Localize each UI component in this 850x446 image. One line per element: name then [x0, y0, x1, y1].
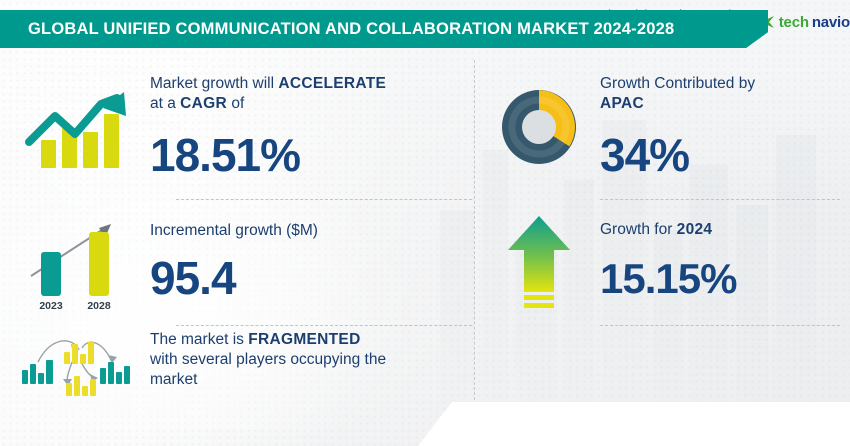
right-divider-1 — [600, 199, 840, 200]
cagr-label-bold: ACCELERATE — [278, 75, 386, 92]
stat-block-growth-2024: Growth for 2024 15.15% — [478, 202, 850, 322]
incremental-growth-text-cell: Incremental growth ($M) 95.4 — [150, 221, 472, 303]
donut-chart-icon-cell — [478, 84, 600, 170]
title-banner: GLOBAL UNIFIED COMMUNICATION AND COLLABO… — [0, 10, 768, 48]
fragmentation-bold: FRAGMENTED — [248, 331, 360, 348]
fragmentation-text-cell: The market is FRAGMENTED with several pl… — [150, 330, 472, 390]
growth-2024-label-pre: Growth for — [600, 221, 677, 238]
left-divider-1 — [176, 199, 472, 200]
cagr-label-line2-pre: at a — [150, 95, 180, 112]
bar-label-2028: 2028 — [83, 300, 115, 312]
page-title: GLOBAL UNIFIED COMMUNICATION AND COLLABO… — [0, 20, 674, 39]
growth-2024-value: 15.15% — [600, 254, 850, 304]
apac-text-cell: Growth Contributed by APAC 34% — [600, 74, 850, 180]
content-area: Market growth will ACCELERATE at a CAGR … — [0, 52, 850, 397]
up-arrow-gradient-icon-cell — [478, 214, 600, 310]
donut-chart-icon — [496, 84, 582, 170]
cagr-value: 18.51% — [150, 130, 472, 180]
donut-inner-circle — [522, 110, 556, 144]
fragmentation-line3: market — [150, 371, 197, 388]
cagr-label-line2-post: of — [227, 95, 244, 112]
apac-value: 34% — [600, 130, 850, 180]
stat-block-incremental-growth: 2023 2028 Incremental growth ($M) 95.4 — [0, 202, 472, 322]
logo-text-tech: tech — [779, 14, 809, 31]
incremental-growth-value: 95.4 — [150, 253, 472, 303]
logo-text-navio: navio — [812, 14, 850, 31]
cagr-label-pre: Market growth will — [150, 75, 278, 92]
incremental-growth-label: Incremental growth ($M) — [150, 221, 472, 241]
infographic-canvas: GLOBAL UNIFIED COMMUNICATION AND COLLABO… — [0, 0, 850, 446]
two-bars-comparison-icon: 2023 2028 — [23, 214, 127, 310]
fragmented-market-icon-cell — [0, 330, 150, 396]
fragmentation-line2: with several players occupying the — [150, 351, 386, 368]
growth-chart-arrow-icon-cell — [0, 86, 150, 168]
fragmentation-pre: The market is — [150, 331, 248, 348]
growth-chart-arrow-icon — [19, 86, 131, 168]
stat-block-cagr: Market growth will ACCELERATE at a CAGR … — [0, 58, 472, 196]
cagr-text-cell: Market growth will ACCELERATE at a CAGR … — [150, 74, 472, 180]
footer-bar — [0, 402, 850, 446]
left-divider-2 — [176, 325, 472, 326]
apac-label-bold: APAC — [600, 95, 644, 112]
bar-label-2023: 2023 — [35, 300, 67, 312]
right-divider-2 — [600, 325, 840, 326]
apac-label-line1: Growth Contributed by — [600, 75, 755, 92]
fragmented-market-icon — [16, 334, 134, 396]
cagr-label: Market growth will ACCELERATE at a CAGR … — [150, 74, 472, 114]
two-bars-comparison-icon-cell: 2023 2028 — [0, 214, 150, 310]
growth-2024-label-bold: 2024 — [677, 221, 713, 238]
growth-2024-label: Growth for 2024 — [600, 220, 850, 240]
technavio-logo[interactable]: technavio — [760, 14, 850, 31]
left-column: Market growth will ACCELERATE at a CAGR … — [0, 52, 472, 397]
stat-block-fragmentation: The market is FRAGMENTED with several pl… — [0, 330, 472, 396]
fragmentation-label: The market is FRAGMENTED with several pl… — [150, 330, 472, 390]
growth-2024-text-cell: Growth for 2024 15.15% — [600, 220, 850, 304]
column-divider — [474, 60, 475, 400]
apac-label: Growth Contributed by APAC — [600, 74, 850, 114]
right-column: Growth Contributed by APAC 34% — [478, 52, 850, 397]
stat-block-apac: Growth Contributed by APAC 34% — [478, 58, 850, 196]
up-arrow-gradient-icon — [506, 214, 572, 310]
cagr-label-line2-bold: CAGR — [180, 95, 227, 112]
